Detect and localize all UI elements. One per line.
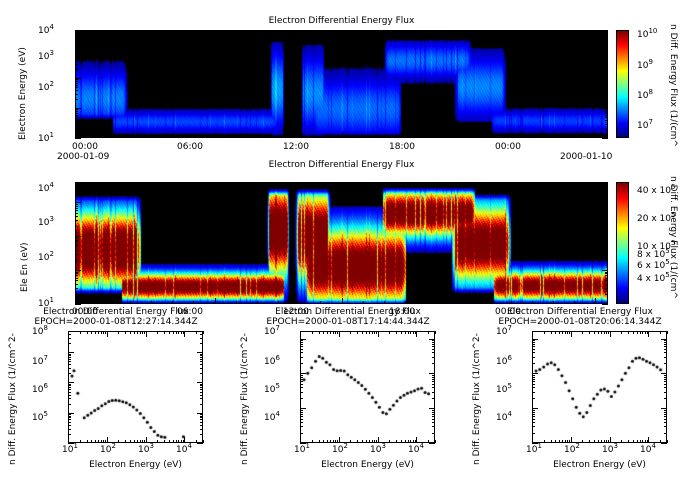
axis-tick [142, 331, 143, 334]
axis-tick [172, 30, 173, 33]
ytick-mantissa: 10 [32, 413, 43, 423]
axis-tick [75, 34, 78, 35]
spectrogram-top-colorbar [616, 30, 629, 138]
axis-tick [532, 342, 535, 343]
axis-tick [664, 375, 667, 376]
axis-tick [75, 275, 78, 276]
axis-tick [664, 346, 667, 347]
ytick-exp: 4 [49, 181, 53, 189]
axis-tick [605, 111, 608, 112]
axis-tick [91, 331, 92, 334]
axis-tick [432, 419, 435, 420]
axis-tick [396, 440, 397, 443]
axis-tick [200, 422, 203, 423]
xtick-mantissa: 10 [138, 445, 149, 455]
axis-tick [200, 404, 203, 405]
axis-tick [605, 129, 608, 130]
axis-tick [408, 331, 409, 334]
axis-tick [178, 331, 179, 334]
axis-tick [637, 440, 638, 443]
colorbar-mid-tick-6: 6 x 105 [637, 261, 670, 271]
spectrum-2-xlabel: Electron Energy (eV) [532, 460, 667, 470]
xtick-exp: 3 [613, 442, 617, 450]
axis-tick [68, 437, 69, 443]
axis-tick [176, 440, 177, 443]
axis-tick [602, 108, 608, 109]
xtick-exp: 4 [187, 442, 191, 450]
axis-tick [667, 331, 668, 334]
axis-tick [342, 30, 343, 36]
axis-tick [468, 30, 469, 36]
axis-tick [75, 284, 78, 285]
axis-tick [299, 182, 300, 185]
axis-tick [532, 379, 535, 380]
axis-tick [75, 85, 78, 86]
spectrogram-top-panel: Electron Differential Energy Flux Electr… [0, 0, 697, 172]
axis-tick [88, 298, 89, 304]
axis-tick [68, 387, 71, 388]
axis-tick [68, 357, 71, 358]
axis-tick [605, 117, 608, 118]
axis-tick [605, 124, 608, 125]
spectrum-1-ytick-4: 104 [264, 413, 280, 423]
axis-tick [75, 216, 78, 217]
axis-tick [605, 79, 608, 80]
axis-tick [366, 331, 367, 334]
colorbar-top-canvas [617, 31, 628, 137]
xtick-exp: 3 [149, 442, 153, 450]
axis-tick [384, 30, 385, 33]
axis-tick [75, 270, 81, 271]
axis-tick [389, 331, 390, 334]
axis-tick [91, 440, 92, 443]
colorbar-top-tick-9: 109 [637, 61, 653, 71]
axis-tick [633, 440, 634, 443]
axis-tick [75, 55, 78, 56]
axis-tick [432, 357, 435, 358]
axis-tick [342, 298, 343, 304]
axis-tick [300, 375, 303, 376]
axis-tick [335, 331, 336, 334]
axis-tick [299, 135, 300, 138]
axis-tick [553, 135, 554, 138]
axis-tick [95, 440, 96, 443]
axis-tick [75, 94, 78, 95]
cbtick-mantissa: 20 x 10 [637, 214, 671, 224]
axis-tick [664, 381, 667, 382]
axis-tick [389, 440, 390, 443]
axis-tick [130, 182, 131, 185]
axis-tick [300, 412, 303, 413]
axis-tick [109, 301, 110, 304]
axis-tick [410, 440, 411, 443]
xtick-mantissa: 10 [176, 445, 187, 455]
axis-tick [173, 440, 174, 443]
axis-tick [88, 132, 89, 138]
axis-tick [75, 64, 78, 65]
axis-tick [605, 57, 608, 58]
axis-tick [605, 210, 608, 211]
axis-tick [193, 182, 194, 185]
axis-tick [605, 39, 608, 40]
axis-tick [447, 30, 448, 33]
xtick-mantissa: 10 [526, 445, 537, 455]
ytick-exp: 1 [49, 131, 53, 139]
ytick-exp: 5 [507, 382, 511, 390]
axis-tick [642, 440, 643, 443]
axis-tick [75, 87, 78, 88]
ytick-exp: 3 [49, 215, 53, 223]
axis-tick [532, 363, 535, 364]
spectrogram-top-xtick-0: 00:00 [72, 142, 98, 152]
axis-tick [640, 331, 641, 334]
axis-tick [80, 331, 81, 334]
spectrogram-top-ytick-2: 102 [38, 83, 54, 93]
spectrum-1-epoch: EPOCH=2000-01-08T17:14:44.344Z [234, 317, 462, 327]
axis-tick [300, 381, 303, 382]
ytick-exp: 5 [43, 410, 47, 418]
axis-tick [357, 331, 358, 334]
axis-tick [605, 83, 608, 84]
cbtick-exp: 8 [648, 88, 652, 96]
axis-tick [642, 331, 643, 334]
axis-tick [532, 30, 533, 33]
axis-tick [300, 414, 303, 415]
spectrum-panel-1: Electron Differential Energy Flux EPOCH=… [232, 305, 464, 492]
axis-tick [532, 340, 535, 341]
spectrum-0-ytick-7: 107 [32, 357, 48, 367]
axis-tick [118, 331, 119, 334]
axis-tick [200, 416, 203, 417]
axis-tick [594, 331, 595, 334]
xtick-mantissa: 10 [62, 445, 73, 455]
ytick-mantissa: 10 [496, 327, 507, 337]
colorbar-mid-tick-4: 4 x 105 [637, 274, 670, 284]
axis-tick [511, 301, 512, 304]
axis-tick [75, 113, 78, 114]
axis-tick [468, 132, 469, 138]
axis-tick [601, 440, 602, 443]
axis-tick [68, 354, 71, 355]
axis-tick [176, 331, 177, 334]
axis-tick [532, 339, 538, 340]
axis-tick [532, 301, 533, 304]
axis-tick [511, 182, 512, 185]
axis-tick [173, 331, 174, 334]
colorbar-top-tick-10: 1010 [637, 30, 657, 40]
cbtick-mantissa: 10 [637, 30, 648, 40]
axis-tick [236, 135, 237, 138]
axis-tick [68, 422, 71, 423]
axis-tick [468, 182, 469, 188]
axis-tick [595, 132, 596, 138]
xtick-exp: 1 [73, 442, 77, 450]
axis-tick [300, 426, 303, 427]
spectrum-2-ytick-7: 107 [496, 327, 512, 337]
axis-tick [75, 250, 78, 251]
axis-tick [582, 440, 583, 443]
spectrogram-mid-ytick-4: 104 [38, 184, 54, 194]
axis-tick [300, 437, 301, 443]
axis-tick [68, 417, 71, 418]
axis-tick [432, 398, 435, 399]
axis-tick [664, 349, 667, 350]
axis-tick [197, 413, 203, 414]
axis-tick [432, 410, 435, 411]
axis-tick [327, 440, 328, 443]
axis-tick [68, 443, 74, 444]
axis-tick [565, 440, 566, 443]
axis-tick [429, 443, 435, 444]
axis-tick [605, 60, 608, 61]
axis-tick [605, 260, 608, 261]
spectrum-0-ytick-6: 106 [32, 385, 48, 395]
axis-tick [532, 384, 535, 385]
axis-tick [664, 433, 667, 434]
axis-tick [628, 331, 629, 334]
axis-tick [605, 244, 608, 245]
spectrogram-mid-title: Electron Differential Energy Flux [75, 160, 608, 170]
ytick-exp: 5 [275, 382, 279, 390]
axis-tick [532, 412, 535, 413]
axis-tick [151, 135, 152, 138]
spectrum-0-xlabel: Electron Energy (eV) [68, 460, 203, 470]
axis-tick [447, 135, 448, 138]
ytick-exp: 2 [49, 80, 53, 88]
axis-tick [532, 349, 535, 350]
axis-tick [200, 354, 203, 355]
ytick-exp: 4 [49, 23, 53, 31]
ytick-exp: 6 [43, 382, 47, 390]
axis-tick [606, 440, 607, 443]
spectrogram-top-xtick-2: 12:00 [283, 142, 309, 152]
axis-tick [605, 241, 608, 242]
axis-tick [574, 301, 575, 304]
axis-tick [319, 331, 320, 334]
axis-tick [200, 373, 203, 374]
axis-tick [408, 440, 409, 443]
xtick-mantissa: 10 [602, 445, 613, 455]
spectrum-2-ytick-6: 106 [496, 357, 512, 367]
axis-tick [75, 204, 78, 205]
axis-tick [68, 416, 71, 417]
axis-tick [68, 419, 71, 420]
axis-tick [432, 381, 435, 382]
axis-tick [196, 440, 197, 443]
axis-tick [178, 440, 179, 443]
axis-tick [339, 437, 340, 443]
axis-tick [68, 404, 71, 405]
ytick-mantissa: 10 [38, 184, 49, 194]
axis-tick [605, 254, 608, 255]
axis-tick [300, 419, 303, 420]
axis-tick [75, 254, 78, 255]
axis-tick [87, 331, 88, 334]
spectrum-1-ytick-6: 106 [264, 357, 280, 367]
axis-tick [215, 182, 216, 188]
axis-tick [330, 331, 331, 334]
axis-tick [312, 331, 313, 334]
axis-tick [299, 301, 300, 304]
axis-tick [602, 78, 608, 79]
axis-tick [605, 87, 608, 88]
axis-tick [532, 443, 538, 444]
axis-tick [605, 64, 608, 65]
xtick-mantissa: 10 [370, 445, 381, 455]
axis-tick [589, 331, 590, 334]
ytick-mantissa: 10 [264, 327, 275, 337]
axis-tick [320, 301, 321, 304]
colorbar-mid-canvas [617, 183, 628, 303]
axis-tick [378, 331, 379, 337]
axis-tick [562, 331, 563, 334]
axis-tick [75, 238, 78, 239]
xtick-exp: 2 [575, 442, 579, 450]
ytick-mantissa: 10 [496, 357, 507, 367]
axis-tick [567, 331, 568, 334]
axis-tick [532, 422, 535, 423]
axis-tick [532, 346, 535, 347]
axis-tick [435, 440, 436, 443]
axis-tick [68, 398, 71, 399]
xtick-exp: 2 [111, 442, 115, 450]
axis-tick [350, 331, 351, 334]
cbtick-mantissa: 8 x 10 [637, 250, 665, 260]
axis-tick [197, 352, 203, 353]
axis-tick [75, 240, 78, 241]
axis-tick [75, 278, 78, 279]
axis-tick [68, 384, 71, 385]
axis-tick [327, 331, 328, 334]
spectrogram-top-canvas [76, 31, 607, 137]
axis-tick [571, 331, 572, 337]
axis-tick [200, 357, 203, 358]
axis-tick [300, 387, 303, 388]
axis-tick [151, 301, 152, 304]
axis-tick [350, 440, 351, 443]
axis-tick [215, 132, 216, 138]
axis-tick [559, 331, 560, 334]
axis-tick [605, 51, 608, 52]
axis-tick [532, 408, 538, 409]
axis-tick [490, 135, 491, 138]
axis-tick [405, 440, 406, 443]
ytick-exp: 6 [275, 354, 279, 362]
spectrogram-top-xtick-1: 06:00 [177, 142, 203, 152]
spectrum-panel-2: Electron Differential Energy Flux EPOCH=… [464, 305, 697, 492]
axis-tick [565, 331, 566, 334]
spectrum-1-xtick-2: 102 [332, 445, 348, 455]
cbtick-mantissa: 6 x 10 [637, 261, 665, 271]
axis-tick [429, 373, 435, 374]
axis-tick [278, 30, 279, 33]
axis-tick [320, 135, 321, 138]
axis-tick [605, 55, 608, 56]
axis-tick [200, 398, 203, 399]
axis-tick [595, 182, 596, 188]
axis-tick [664, 379, 667, 380]
spectrum-2-canvas [533, 332, 666, 442]
axis-tick [605, 280, 608, 281]
axis-tick [164, 331, 165, 334]
axis-tick [330, 440, 331, 443]
axis-tick [300, 339, 306, 340]
axis-tick [664, 422, 667, 423]
ytick-mantissa: 10 [264, 357, 275, 367]
spectrum-0-xtick-1: 101 [62, 445, 78, 455]
cbtick-mantissa: 4 x 10 [637, 274, 665, 284]
axis-tick [342, 132, 343, 138]
axis-tick [109, 182, 110, 185]
axis-tick [374, 440, 375, 443]
spectrogram-top-ytick-3: 103 [38, 52, 54, 62]
axis-tick [432, 352, 435, 353]
axis-tick [236, 182, 237, 185]
axis-tick [605, 250, 608, 251]
axis-tick [142, 440, 143, 443]
axis-tick [432, 384, 435, 385]
cbtick-exp: 9 [648, 58, 652, 66]
axis-tick [664, 419, 667, 420]
xtick-exp: 1 [305, 442, 309, 450]
axis-tick [605, 288, 608, 289]
axis-tick [300, 384, 303, 385]
axis-tick [595, 298, 596, 304]
axis-tick [75, 213, 78, 214]
axis-tick [300, 443, 306, 444]
axis-tick [68, 392, 71, 393]
axis-tick [140, 331, 141, 334]
axis-tick [362, 331, 363, 334]
axis-tick [68, 338, 71, 339]
axis-tick [75, 294, 78, 295]
colorbar-top-label: n Diff. Energy Flux (1/(cm^ [678, 24, 697, 34]
axis-tick [134, 440, 135, 443]
axis-tick [605, 208, 608, 209]
spectrogram-mid-canvas [76, 183, 607, 303]
axis-tick [544, 440, 545, 443]
axis-tick [432, 363, 435, 364]
axis-tick [75, 81, 78, 82]
axis-tick [101, 331, 102, 334]
spectrogram-mid-plot-area [75, 182, 608, 304]
axis-tick [75, 49, 78, 50]
axis-tick [555, 331, 556, 334]
axis-tick [667, 440, 668, 443]
axis-tick [532, 433, 535, 434]
axis-tick [384, 182, 385, 185]
axis-tick [602, 202, 608, 203]
axis-tick [193, 30, 194, 33]
axis-tick [109, 135, 110, 138]
axis-tick [75, 246, 78, 247]
axis-tick [605, 278, 608, 279]
spectrum-2-ytick-5: 105 [496, 385, 512, 395]
axis-tick [664, 384, 667, 385]
axis-tick [80, 440, 81, 443]
axis-tick [107, 437, 108, 443]
axis-tick [532, 381, 535, 382]
axis-tick [257, 135, 258, 138]
axis-tick [68, 429, 71, 430]
axis-tick [130, 135, 131, 138]
axis-tick [432, 377, 435, 378]
xtick-exp: 1 [537, 442, 541, 450]
axis-tick [184, 331, 185, 337]
axis-tick [75, 120, 78, 121]
axis-tick [605, 81, 608, 82]
axis-tick [429, 339, 435, 340]
